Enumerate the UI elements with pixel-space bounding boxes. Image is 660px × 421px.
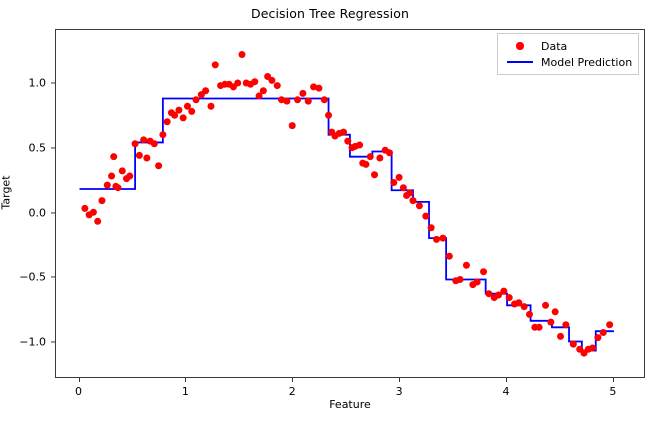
x-tick-label: 5 — [609, 385, 616, 398]
data-point — [400, 184, 407, 191]
data-point — [557, 333, 564, 340]
data-point — [386, 149, 393, 156]
data-point — [289, 122, 296, 129]
data-point — [547, 319, 554, 326]
data-point — [180, 114, 187, 121]
data-point — [570, 341, 577, 348]
model-prediction-path — [80, 99, 614, 351]
data-point — [390, 179, 397, 186]
legend-label-model: Model Prediction — [541, 56, 632, 69]
data-point — [143, 154, 150, 161]
data-point — [463, 262, 470, 269]
data-point — [104, 182, 111, 189]
data-point — [376, 154, 383, 161]
data-point — [600, 329, 607, 336]
data-point — [315, 85, 322, 92]
x-tick-label: 4 — [503, 385, 510, 398]
chart-figure: Decision Tree Regression Target −1.0−0.5… — [0, 0, 660, 421]
data-point — [428, 224, 435, 231]
data-point — [294, 96, 301, 103]
data-point — [94, 218, 101, 225]
data-point — [207, 103, 214, 110]
x-tick-label: 3 — [396, 385, 403, 398]
data-point — [536, 324, 543, 331]
data-point — [433, 236, 440, 243]
data-point — [108, 173, 115, 180]
chart-title: Decision Tree Regression — [0, 6, 660, 21]
data-point — [526, 311, 533, 318]
data-point — [325, 112, 332, 119]
data-point — [589, 344, 596, 351]
data-point — [151, 140, 158, 147]
x-tick-label: 0 — [75, 385, 82, 398]
data-point — [594, 334, 601, 341]
data-point — [439, 235, 446, 242]
data-point — [506, 294, 513, 301]
x-tick-label: 1 — [182, 385, 189, 398]
data-point — [344, 138, 351, 145]
x-tick-label: 2 — [289, 385, 296, 398]
data-point — [446, 253, 453, 260]
data-point — [422, 213, 429, 220]
y-axis-label: Target — [0, 175, 13, 209]
plot-area — [55, 29, 645, 378]
y-tick-label: −1.0 — [19, 335, 46, 348]
data-point — [188, 108, 195, 115]
data-point — [474, 279, 481, 286]
data-point — [119, 167, 126, 174]
data-point — [283, 98, 290, 105]
data-point — [98, 197, 105, 204]
data-point — [542, 302, 549, 309]
data-point — [305, 98, 312, 105]
data-point — [406, 189, 413, 196]
data-point — [416, 202, 423, 209]
data-point — [274, 82, 281, 89]
data-point — [362, 161, 369, 168]
chart-legend: Data Model Prediction — [497, 33, 639, 75]
data-point — [234, 80, 241, 87]
legend-marker-data-icon — [503, 42, 537, 50]
data-point — [114, 184, 121, 191]
y-tick-label: 0.0 — [29, 206, 47, 219]
data-point — [202, 87, 209, 94]
data-point — [340, 129, 347, 136]
y-tick-label: 1.0 — [29, 77, 47, 90]
data-point — [457, 276, 464, 283]
legend-entry-model: Model Prediction — [503, 54, 632, 70]
data-point — [90, 209, 97, 216]
data-point — [552, 308, 559, 315]
data-point — [299, 90, 306, 97]
data-point — [521, 303, 528, 310]
data-point — [367, 153, 374, 160]
y-tick-label: −0.5 — [19, 271, 46, 284]
legend-marker-model-icon — [503, 61, 537, 63]
x-axis-label: Feature — [55, 398, 645, 411]
data-point — [159, 131, 166, 138]
data-point — [126, 173, 133, 180]
data-point — [251, 78, 258, 85]
data-point — [321, 96, 328, 103]
data-point — [238, 51, 245, 58]
data-point — [606, 321, 613, 328]
data-point — [356, 142, 363, 149]
model-prediction-step-line — [80, 99, 614, 351]
data-point — [260, 87, 267, 94]
y-tick-label: 0.5 — [29, 141, 47, 154]
data-point — [500, 288, 507, 295]
legend-entry-data: Data — [503, 38, 632, 54]
data-point — [110, 153, 117, 160]
data-point — [409, 197, 416, 204]
data-point — [140, 136, 147, 143]
data-point — [155, 162, 162, 169]
data-point — [480, 268, 487, 275]
data-point — [212, 61, 219, 68]
data-point — [136, 152, 143, 159]
data-point — [562, 321, 569, 328]
data-point — [164, 118, 171, 125]
data-point — [81, 205, 88, 212]
plot-canvas — [56, 30, 646, 379]
data-point — [371, 171, 378, 178]
data-point — [268, 77, 275, 84]
data-point — [175, 107, 182, 114]
legend-label-data: Data — [541, 40, 567, 53]
data-point — [132, 140, 139, 147]
data-point — [193, 96, 200, 103]
data-point — [396, 174, 403, 181]
data-scatter-points — [81, 51, 613, 357]
